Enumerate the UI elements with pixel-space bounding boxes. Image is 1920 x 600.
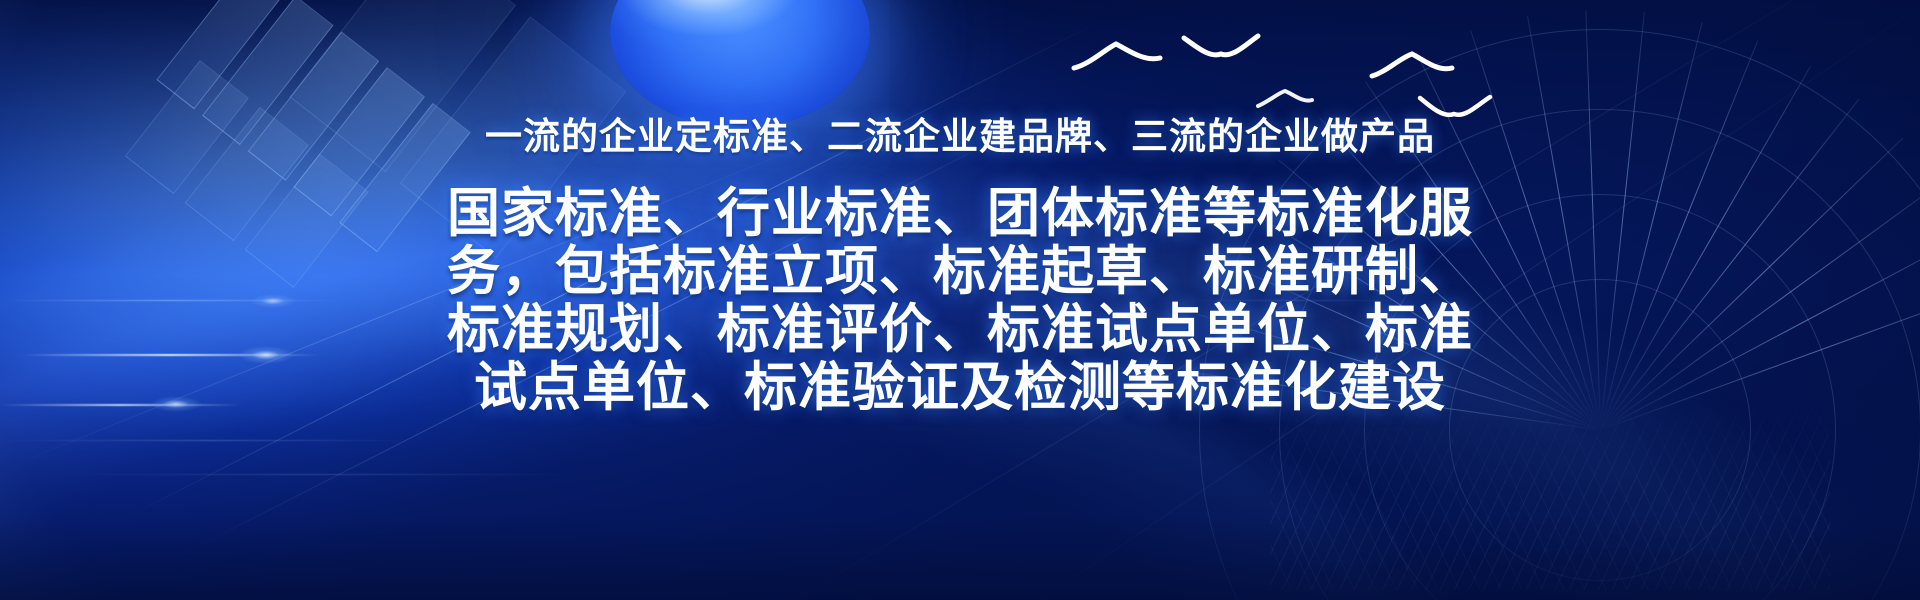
glowing-sphere [610,0,870,128]
banner-body-line-4: 试点单位、标准验证及检测等标准化建设 [445,359,1475,417]
seagull-icon-1 [1072,38,1162,74]
banner-body-line-2: 务，包括标准立项、标准起草、标准研制、 [445,243,1475,301]
banner-body: 国家标准、行业标准、团体标准等标准化服 务，包括标准立项、标准起草、标准研制、 … [445,185,1475,417]
banner-body-line-3: 标准规划、标准评价、标准试点单位、标准 [445,301,1475,359]
banner-body-line-1: 国家标准、行业标准、团体标准等标准化服 [445,185,1475,243]
banner-headline: 一流的企业定标准、二流企业建品牌、三流的企业做产品 [0,118,1920,155]
promo-banner: 一流的企业定标准、二流企业建品牌、三流的企业做产品 国家标准、行业标准、团体标准… [0,0,1920,600]
